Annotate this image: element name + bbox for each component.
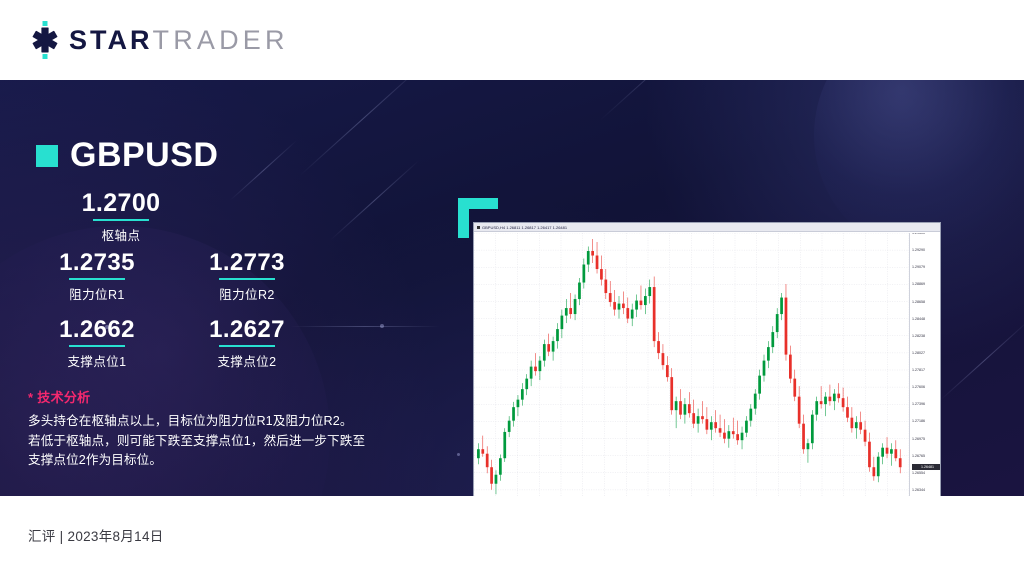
price-tick: 1.28448 <box>912 317 925 321</box>
price-tick: 1.27606 <box>912 385 925 389</box>
level-value: 1.2662 <box>22 317 172 342</box>
page-header: STAR TRADER <box>0 0 1024 80</box>
price-tick: 1.27396 <box>912 402 925 406</box>
levels-grid: 1.2735 阻力位R1 1.2773 阻力位R2 1.2662 支撑点位1 1… <box>22 250 322 384</box>
candlestick-svg <box>474 233 909 496</box>
divider <box>69 345 125 347</box>
price-tick: 1.29290 <box>912 248 925 252</box>
chart-window[interactable]: GBPUSD,H4 1.26811 1.26817 1.26417 1.2648… <box>473 222 941 496</box>
price-tick: 1.28658 <box>912 300 925 304</box>
current-price-tag: 1.26481 <box>912 464 940 470</box>
level-value: 1.2735 <box>22 250 172 275</box>
chart-symbol-icon <box>477 226 480 229</box>
brand-logo[interactable]: STAR TRADER <box>28 21 289 59</box>
price-tick: 1.26344 <box>912 488 925 492</box>
level-cell-s2: 1.2627 支撑点位2 <box>172 317 322 370</box>
price-tick: 1.28869 <box>912 282 925 286</box>
level-label: 支撑点位2 <box>172 351 322 370</box>
price-tick: 1.26765 <box>912 454 925 458</box>
level-label: 阻力位R1 <box>22 284 172 303</box>
analysis-line-3: 支撑点位2作为目标位。 <box>28 451 428 471</box>
level-label: 支撑点位1 <box>22 351 172 370</box>
asterisk-star-icon <box>28 21 62 59</box>
analysis-title: * 技术分析 <box>28 387 428 406</box>
price-tick: 1.29079 <box>912 265 925 269</box>
pivot-label: 枢轴点 <box>36 225 206 244</box>
candlestick-plot[interactable] <box>474 233 909 496</box>
price-tick: 1.29500 <box>912 233 925 235</box>
accent-square-icon <box>36 145 58 167</box>
currency-pair-heading: GBPUSD <box>36 136 218 175</box>
price-axis: 1.295001.292901.290791.288691.286581.284… <box>909 233 940 496</box>
divider <box>69 278 125 280</box>
chart-titlebar: GBPUSD,H4 1.26811 1.26817 1.26417 1.2648… <box>474 223 940 232</box>
page-title: GBPUSD <box>70 136 218 175</box>
price-tick: 1.26554 <box>912 471 925 475</box>
level-label: 阻力位R2 <box>172 284 322 303</box>
price-tick: 1.27817 <box>912 368 925 372</box>
level-cell-s1: 1.2662 支撑点位1 <box>22 317 172 370</box>
divider <box>93 219 149 221</box>
brand-name-bold: STAR <box>69 25 153 56</box>
level-cell-r2: 1.2773 阻力位R2 <box>172 250 322 303</box>
brand-name-light: TRADER <box>153 25 289 56</box>
level-value: 1.2627 <box>172 317 322 342</box>
pivot-point-block: 1.2700 枢轴点 <box>36 190 206 244</box>
decorative-dot <box>457 453 460 456</box>
info-panel: GBPUSD 1.2700 枢轴点 1.2735 阻力位R1 1.2773 阻力… <box>0 80 440 496</box>
main-stage: GBPUSD 1.2700 枢轴点 1.2735 阻力位R1 1.2773 阻力… <box>0 80 1024 496</box>
footer-caption: 汇评 | 2023年8月14日 <box>28 525 164 545</box>
analysis-line-1: 多头持仓在枢轴点以上，目标位为阻力位R1及阻力位R2。 <box>28 412 428 432</box>
price-tick: 1.28238 <box>912 334 925 338</box>
level-value: 1.2773 <box>172 250 322 275</box>
chart-titlebar-text: GBPUSD,H4 1.26811 1.26817 1.26417 1.2648… <box>482 225 567 230</box>
price-tick: 1.27186 <box>912 419 925 423</box>
divider <box>219 345 275 347</box>
divider <box>219 278 275 280</box>
price-tick: 1.26975 <box>912 437 925 441</box>
pivot-value: 1.2700 <box>36 190 206 216</box>
page-footer: 汇评 | 2023年8月14日 <box>0 496 1024 576</box>
level-cell-r1: 1.2735 阻力位R1 <box>22 250 172 303</box>
analysis-line-2: 若低于枢轴点，则可能下跌至支撑点位1，然后进一步下跌至 <box>28 432 428 452</box>
technical-analysis-block: * 技术分析 多头持仓在枢轴点以上，目标位为阻力位R1及阻力位R2。 若低于枢轴… <box>28 387 428 471</box>
price-tick: 1.28027 <box>912 351 925 355</box>
